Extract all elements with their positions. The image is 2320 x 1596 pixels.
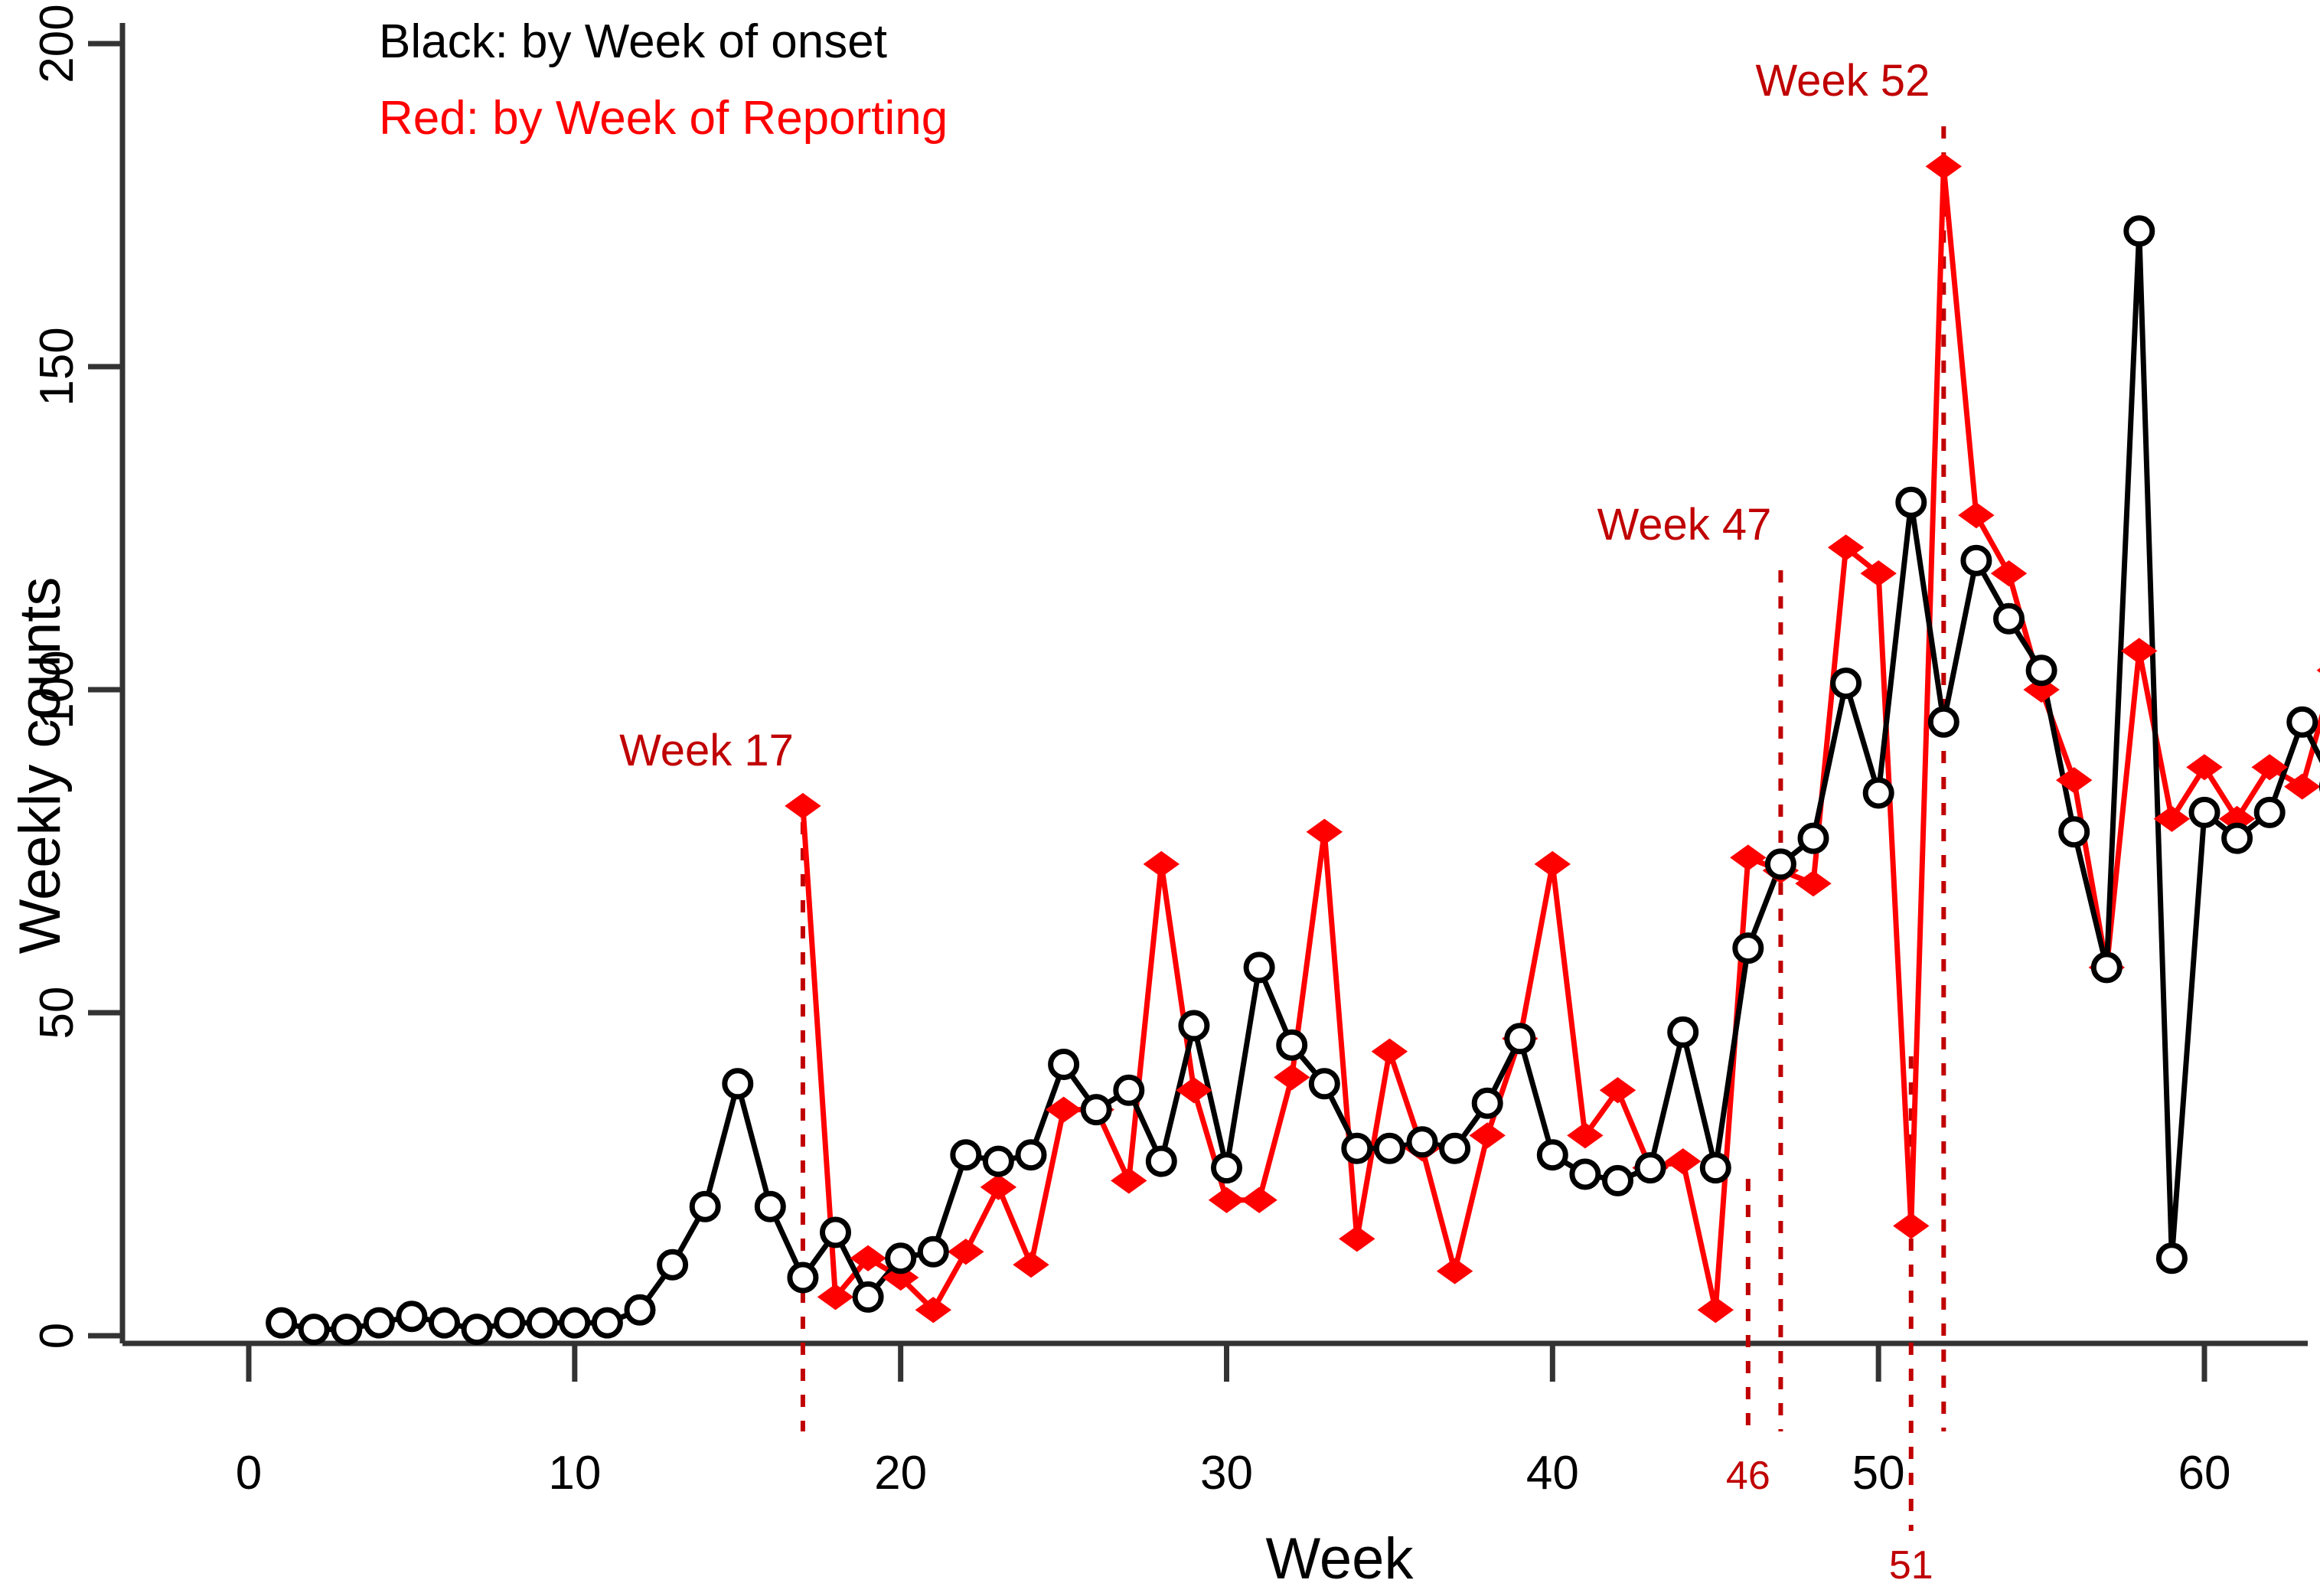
data-point-reporting <box>1438 1259 1472 1284</box>
data-point-reporting <box>1535 852 1569 876</box>
annotation-label-week-17: Week 17 <box>619 726 794 775</box>
x-axis-title: Week <box>1266 1526 1415 1591</box>
data-point-onset <box>1442 1135 1468 1161</box>
data-point-onset <box>2061 819 2087 845</box>
data-point-onset <box>1670 1019 1696 1045</box>
data-point-reporting <box>1927 155 1960 179</box>
data-point-onset <box>823 1219 849 1245</box>
data-point-onset <box>1735 935 1761 961</box>
data-point-reporting <box>1992 561 2026 586</box>
data-point-reporting <box>2188 755 2221 779</box>
data-point-onset <box>920 1239 946 1265</box>
x-tick-label: 30 <box>1200 1447 1253 1500</box>
data-point-onset <box>1376 1135 1402 1161</box>
data-point-onset <box>692 1193 718 1219</box>
data-point-onset <box>1181 1013 1207 1039</box>
data-point-reporting <box>1959 503 1993 527</box>
data-point-onset <box>1018 1142 1044 1168</box>
series-path-filled-diamond <box>803 166 2320 1310</box>
y-tick-label: 0 <box>31 1323 83 1349</box>
y-tick-label: 200 <box>31 4 83 83</box>
data-point-reporting <box>1242 1188 1276 1213</box>
annotation-label-week-47: Week 47 <box>1597 500 1772 550</box>
legend-black-label: Black: by Week of onset <box>379 15 887 68</box>
data-point-onset <box>855 1284 881 1310</box>
data-point-onset <box>399 1304 425 1330</box>
data-point-onset <box>888 1245 914 1271</box>
data-point-reporting <box>786 794 820 818</box>
data-point-onset <box>1833 671 1859 697</box>
legend-red-label: Red: by Week of Reporting <box>379 92 948 145</box>
data-point-onset <box>757 1193 783 1219</box>
data-point-reporting <box>1112 1169 1146 1193</box>
data-point-reporting <box>1568 1124 1602 1148</box>
red-x-tick-label-51: 51 <box>1889 1543 1933 1588</box>
data-point-reporting <box>981 1175 1015 1199</box>
data-point-onset <box>1898 489 1924 515</box>
data-point-reporting <box>1666 1149 1700 1173</box>
data-point-onset <box>1637 1155 1663 1181</box>
data-point-onset <box>1246 955 1272 981</box>
data-point-reporting <box>1307 820 1341 844</box>
data-point-onset <box>2224 825 2250 851</box>
data-point-reporting <box>1796 871 1830 896</box>
data-point-reporting <box>1372 1040 1406 1064</box>
data-point-onset <box>1572 1161 1598 1187</box>
data-point-onset <box>464 1317 490 1343</box>
data-point-onset <box>1767 851 1793 877</box>
data-point-onset <box>1702 1155 1728 1181</box>
data-point-reporting <box>1601 1078 1635 1102</box>
data-point-onset <box>1083 1097 1109 1123</box>
y-tick-group <box>88 44 122 1336</box>
y-tick-label: 150 <box>31 327 83 406</box>
annotation-group: Week 17Week 47Week 52 <box>619 56 1943 1531</box>
data-point-reporting <box>1698 1297 1732 1322</box>
red-x-tick-label-46: 46 <box>1726 1454 1770 1498</box>
data-point-onset <box>562 1310 588 1336</box>
data-point-onset <box>1963 547 1989 573</box>
data-point-reporting <box>1894 1214 1928 1239</box>
data-point-onset <box>1279 1032 1305 1058</box>
epidemic-curve-chart: 050100150200 0102030405060 4651 Weekly c… <box>0 0 2320 1596</box>
data-point-onset <box>1051 1052 1077 1078</box>
data-point-reporting <box>1275 1066 1309 1090</box>
data-point-onset <box>366 1310 392 1336</box>
annotation-label-week-52: Week 52 <box>1755 56 1930 106</box>
data-point-onset <box>985 1148 1011 1174</box>
series-markers-onset <box>269 218 2320 1343</box>
y-tick-label: 50 <box>31 987 83 1040</box>
x-tick-label: 20 <box>874 1447 927 1500</box>
data-point-onset <box>2191 799 2217 825</box>
data-point-onset <box>627 1297 653 1323</box>
data-point-onset <box>1996 605 2022 632</box>
data-point-onset <box>2028 658 2054 684</box>
data-point-onset <box>725 1071 751 1097</box>
data-point-onset <box>1214 1155 1240 1181</box>
data-point-onset <box>2093 955 2119 981</box>
data-point-onset <box>2158 1245 2185 1271</box>
data-point-onset <box>1605 1167 1631 1193</box>
x-tick-label: 0 <box>236 1447 262 1500</box>
x-tick-label: 10 <box>548 1447 601 1500</box>
data-point-onset <box>2126 218 2152 244</box>
data-point-onset <box>529 1310 555 1336</box>
x-tick-labels: 0102030405060 <box>236 1447 2231 1500</box>
axis-group <box>88 23 2308 1382</box>
data-point-onset <box>1148 1148 1174 1174</box>
data-point-onset <box>660 1252 686 1278</box>
data-point-onset <box>1311 1071 1337 1097</box>
data-point-onset <box>334 1317 360 1343</box>
data-point-reporting <box>1144 852 1178 876</box>
data-point-reporting <box>1340 1227 1374 1252</box>
data-point-onset <box>1930 709 1956 735</box>
data-point-onset <box>1507 1026 1533 1052</box>
x-tick-label: 40 <box>1526 1447 1579 1500</box>
data-point-onset <box>953 1142 979 1168</box>
x-tick-label: 60 <box>2178 1447 2231 1500</box>
data-point-onset <box>790 1265 816 1291</box>
data-point-reporting <box>949 1239 983 1264</box>
chart-root: 050100150200 0102030405060 4651 Weekly c… <box>0 0 2320 1596</box>
data-point-onset <box>1409 1129 1435 1155</box>
series-path-open-circle <box>282 231 2320 1330</box>
data-point-onset <box>1474 1090 1500 1116</box>
data-point-onset <box>594 1310 620 1336</box>
data-point-reporting <box>1014 1252 1048 1277</box>
x-tick-label: 50 <box>1852 1447 1905 1500</box>
data-point-onset <box>301 1317 327 1343</box>
data-point-onset <box>1800 825 1826 851</box>
data-point-onset <box>497 1310 523 1336</box>
series-line-onset <box>282 231 2320 1330</box>
data-point-onset <box>1344 1135 1370 1161</box>
data-point-onset <box>269 1310 295 1336</box>
data-point-onset <box>2256 799 2282 825</box>
data-point-onset <box>1539 1142 1565 1168</box>
data-point-reporting <box>1470 1124 1504 1148</box>
data-point-reporting <box>819 1285 853 1310</box>
data-point-reporting <box>1731 846 1765 870</box>
data-point-onset <box>2289 709 2315 735</box>
data-point-onset <box>1865 780 1891 806</box>
y-axis-title: Weekly counts <box>8 577 73 955</box>
data-point-onset <box>432 1310 458 1336</box>
data-point-onset <box>1116 1077 1142 1103</box>
data-point-reporting <box>1210 1188 1244 1213</box>
series-line-reporting <box>803 166 2320 1310</box>
